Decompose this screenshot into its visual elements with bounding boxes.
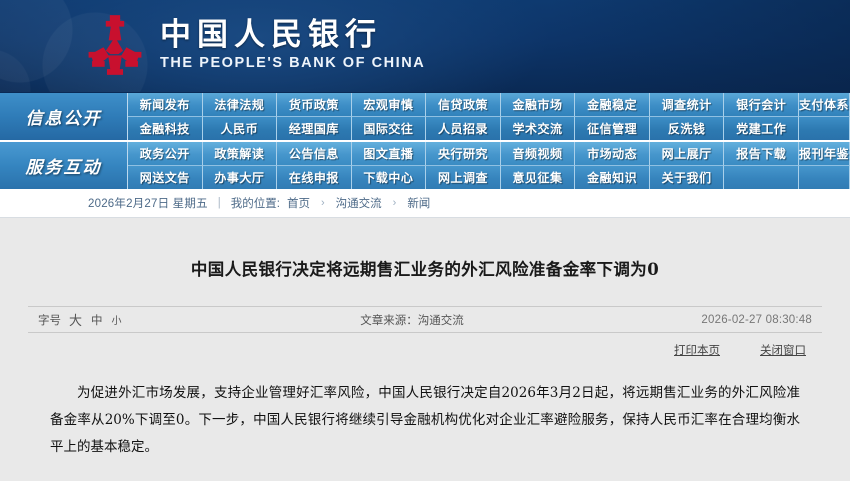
article-tools-top: 打印本页 关闭窗口 (28, 333, 822, 358)
font-size-controls: 字号 大 中 小 (38, 310, 123, 329)
breadcrumb-location-label: 我的位置: (231, 195, 280, 211)
font-size-small-button[interactable]: 小 (111, 312, 123, 327)
nav-item-jinrongkeji[interactable]: 金融科技 (128, 117, 203, 141)
brand-name-en: THE PEOPLE'S BANK OF CHINA (160, 56, 425, 72)
nav-item-gonggaoxinxi[interactable]: 公告信息 (277, 142, 352, 166)
article-container: 中国人民银行决定将远期售汇业务的外汇风险准备金率下调为0 字号 大 中 小 文章… (14, 232, 836, 481)
nav-item-dangjiangongzuo[interactable]: 党建工作 (724, 117, 799, 141)
nav-item-guojijiaowang[interactable]: 国际交往 (352, 117, 427, 141)
nav-item-tuwenzhibo[interactable]: 图文直播 (352, 142, 427, 166)
article-tools-bottom: 打印本页 关闭窗口 (28, 461, 822, 481)
article-source-label: 文章来源： (360, 315, 418, 327)
nav-item-wangsongwengao[interactable]: 网送文告 (128, 166, 203, 190)
pboc-logo-icon (86, 14, 144, 76)
article-body: 为促进外汇市场发展，支持企业管理好汇率风险，中国人民银行决定自2026年3月2日… (28, 358, 822, 461)
nav-item-shichangdongtai[interactable]: 市场动态 (575, 142, 650, 166)
nav-item-wangshangzhanting[interactable]: 网上展厅 (650, 142, 725, 166)
print-page-link-top[interactable]: 打印本页 (674, 342, 720, 358)
nav-item-guanyuwomen[interactable]: 关于我们 (650, 166, 725, 190)
breadcrumb-link-communication[interactable]: 沟通交流 (336, 195, 382, 211)
nav-item-placeholder-info (799, 117, 850, 141)
page-title: 中国人民银行决定将远期售汇业务的外汇风险准备金率下调为0 (28, 232, 822, 306)
site-brand[interactable]: 中国人民银行 THE PEOPLE'S BANK OF CHINA (86, 14, 425, 76)
nav-item-xindaizhengce[interactable]: 信贷政策 (426, 93, 501, 117)
nav-item-xiazaizhongxin[interactable]: 下载中心 (352, 166, 427, 190)
nav-item-hongguanshenshen[interactable]: 宏观审慎 (352, 93, 427, 117)
brand-name-cn: 中国人民银行 (160, 18, 425, 54)
nav-item-zhengxinguanli[interactable]: 征信管理 (575, 117, 650, 141)
nav-item-placeholder-service-1 (724, 166, 799, 190)
nav-item-yijianzhengji[interactable]: 意见征集 (501, 166, 576, 190)
nav-grid-service: 政务公开 网送文告 政策解读 办事大厅 公告信息 在线申报 图文直播 下载中心 … (128, 142, 850, 189)
site-masthead: 中国人民银行 THE PEOPLE'S BANK OF CHINA (0, 0, 850, 92)
nav-item-diaochatongji[interactable]: 调查统计 (650, 93, 725, 117)
nav-item-zhengcejiedu[interactable]: 政策解读 (203, 142, 278, 166)
breadcrumb-date: 2026年2月27日 星期五 (88, 195, 208, 211)
font-size-label: 字号 (38, 312, 61, 328)
nav-item-renyuanzhaolu[interactable]: 人员招录 (426, 117, 501, 141)
nav-item-yinpinshipin[interactable]: 音频视频 (501, 142, 576, 166)
nav-item-placeholder-service-2 (799, 166, 850, 190)
breadcrumb-pipe: | (215, 197, 224, 209)
close-window-link-top[interactable]: 关闭窗口 (760, 342, 806, 358)
nav-block-service-interaction: 服务互动 政务公开 网送文告 政策解读 办事大厅 公告信息 在线申报 图文直播 … (0, 142, 850, 189)
breadcrumb-link-home[interactable]: 首页 (287, 195, 310, 211)
main-navigation: 信息公开 新闻发布 金融科技 法律法规 人民币 货币政策 经理国库 宏观审慎 国… (0, 92, 850, 189)
article-source-value: 沟通交流 (418, 315, 464, 327)
nav-item-xueshujiaoliu[interactable]: 学术交流 (501, 117, 576, 141)
nav-item-jingliguoku[interactable]: 经理国库 (277, 117, 352, 141)
nav-item-falvfagui[interactable]: 法律法规 (203, 93, 278, 117)
article-source: 文章来源：沟通交流 (123, 312, 702, 328)
nav-block-title-service[interactable]: 服务互动 (0, 142, 128, 189)
nav-item-huobizhengce[interactable]: 货币政策 (277, 93, 352, 117)
brand-text: 中国人民银行 THE PEOPLE'S BANK OF CHINA (160, 18, 425, 72)
nav-grid-info: 新闻发布 金融科技 法律法规 人民币 货币政策 经理国库 宏观审慎 国际交往 信… (128, 93, 850, 140)
nav-item-yinhangkuaiji[interactable]: 银行会计 (724, 93, 799, 117)
nav-item-renminbi[interactable]: 人民币 (203, 117, 278, 141)
font-size-large-button[interactable]: 大 (68, 310, 83, 329)
nav-item-jinrongshichang[interactable]: 金融市场 (501, 93, 576, 117)
nav-item-jinrongwending[interactable]: 金融稳定 (575, 93, 650, 117)
article-timestamp: 2026-02-27 08:30:48 (701, 314, 812, 326)
article-meta-row: 字号 大 中 小 文章来源：沟通交流 2026-02-27 08:30:48 (28, 306, 822, 333)
nav-item-zhifutixi[interactable]: 支付体系 (799, 93, 850, 117)
breadcrumb-link-news[interactable]: 新闻 (407, 195, 430, 211)
nav-block-title-info[interactable]: 信息公开 (0, 93, 128, 140)
nav-item-baogaoxiazai[interactable]: 报告下载 (724, 142, 799, 166)
nav-block-info-disclosure: 信息公开 新闻发布 金融科技 法律法规 人民币 货币政策 经理国库 宏观审慎 国… (0, 93, 850, 140)
chevron-right-icon-1: › (317, 197, 329, 209)
nav-item-zaixianshenbao[interactable]: 在线申报 (277, 166, 352, 190)
nav-item-xinwenfabu[interactable]: 新闻发布 (128, 93, 203, 117)
nav-item-baokannianjian[interactable]: 报刊年鉴 (799, 142, 850, 166)
font-size-medium-button[interactable]: 中 (90, 312, 104, 328)
nav-item-banshidating[interactable]: 办事大厅 (203, 166, 278, 190)
nav-item-jinrongzhishi[interactable]: 金融知识 (575, 166, 650, 190)
nav-item-zhengwugongkai[interactable]: 政务公开 (128, 142, 203, 166)
breadcrumb: 2026年2月27日 星期五 | 我的位置: 首页 › 沟通交流 › 新闻 (0, 189, 850, 218)
nav-item-yanghangyanjiu[interactable]: 央行研究 (426, 142, 501, 166)
page-body: 中国人民银行决定将远期售汇业务的外汇风险准备金率下调为0 字号 大 中 小 文章… (0, 218, 850, 481)
nav-item-fanxiqian[interactable]: 反洗钱 (650, 117, 725, 141)
nav-item-wangshangdiaocha[interactable]: 网上调查 (426, 166, 501, 190)
chevron-right-icon-2: › (389, 197, 401, 209)
